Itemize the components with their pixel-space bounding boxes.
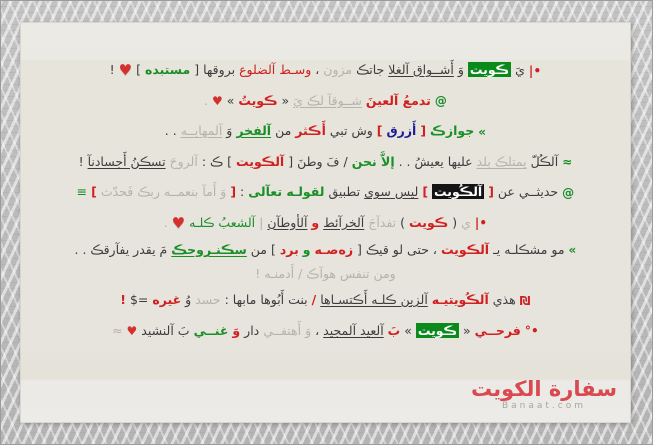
- run: حسد: [195, 292, 220, 307]
- run: !: [110, 62, 115, 77]
- run: =$: [130, 292, 148, 307]
- run: وُ: [185, 292, 191, 307]
- run: آلڪُلّ: [531, 154, 559, 169]
- run: لقولـﻪ تعآلى: [248, 184, 324, 199]
- run: آلفخر: [236, 123, 271, 138]
- run: بَ آلنشيد: [141, 323, 189, 338]
- run: ليس سوى: [364, 184, 418, 199]
- text-line-8: ₪ هذي آلڪُويتيـﻪ آلزين ڪلـﻪ أَڪتسـاها / …: [30, 285, 621, 316]
- line-marker: ₪: [520, 286, 531, 316]
- run: برد: [280, 242, 299, 257]
- highlight-kuwait: ڪويت: [468, 62, 511, 77]
- run: تفدآجَ: [368, 215, 396, 230]
- run: مستبدﻩ: [145, 62, 190, 77]
- run: آلشعبُ ڪلـﻪ: [189, 215, 255, 230]
- line-marker: »: [569, 239, 577, 262]
- watermark-latin: Banaat.com: [471, 400, 617, 413]
- run: ]: [271, 242, 276, 257]
- run: بنت أَبُوها مابها :: [225, 292, 308, 307]
- line-marker: •|: [475, 208, 487, 238]
- decorative-frame: •| يَ ڪويت وَ أَشــواق آلغلا جاتڪ مزون ،…: [0, 0, 653, 445]
- text-line-3: » جوازڪ [ أَزرق ] وش تبي أَڪثر من آلفخر …: [30, 116, 621, 147]
- watermark: سفارة الكويت Banaat.com: [471, 378, 617, 413]
- run: من: [251, 242, 267, 257]
- run: ، حتى لو قيڪ: [366, 242, 437, 257]
- run: (: [452, 215, 457, 230]
- run: وَ أَمآ بنعمــﻪ ربڪ فَحدّث: [101, 184, 227, 199]
- run: .: [164, 215, 168, 230]
- run: مزون: [323, 62, 352, 77]
- run: عليها يعيشُ: [415, 154, 473, 169]
- line-marker: ≈: [562, 147, 572, 177]
- run: دار: [244, 323, 259, 338]
- text-line-7: » مو مشڪلـﻪ يـ آلڪويت ، حتى لو قيڪ [ زﻩص…: [30, 238, 621, 285]
- heart-icon: ♥: [119, 61, 132, 79]
- run: :: [240, 184, 244, 199]
- run: ≈: [112, 323, 122, 338]
- highlight-kuwait: ڪويت: [416, 323, 459, 338]
- line-marker: @: [562, 178, 574, 208]
- run: [: [357, 242, 362, 257]
- run: آلڪويت: [441, 242, 489, 257]
- run: ي: [461, 215, 471, 230]
- run: آلعيد آلمجيد: [323, 323, 384, 338]
- text-line-6: •| ي ( ڪويت ) تفدآجَ آلخرآئط و آلأوطآن |…: [30, 208, 621, 239]
- run: حديثــي عن: [498, 184, 558, 199]
- run: وَ: [226, 123, 232, 138]
- run: ڪويتُ: [238, 93, 277, 108]
- run: [: [288, 154, 293, 169]
- run: فَ وطنَ: [297, 154, 339, 169]
- run: [: [420, 123, 426, 138]
- run: و: [311, 215, 319, 230]
- run: جاتڪ: [356, 62, 384, 77]
- run: مو مشڪلـﻪ يـ: [493, 242, 564, 257]
- run: /: [344, 154, 348, 169]
- run: أَڪثر: [295, 123, 326, 138]
- run: غيره: [152, 292, 181, 307]
- run: . .: [75, 242, 87, 257]
- run: «: [282, 93, 290, 108]
- heart-icon: ♥: [172, 214, 185, 232]
- content-page: •| يَ ڪويت وَ أَشــواق آلغلا جاتڪ مزون ،…: [20, 22, 631, 423]
- run: [: [230, 184, 236, 199]
- run: تسڪنُ أَجسادنآ: [88, 154, 166, 169]
- run: أَشــواق آلغلا: [388, 62, 454, 77]
- run: ،: [315, 62, 319, 77]
- run: إلاَّ نحن: [352, 154, 395, 169]
- run: وَ: [458, 62, 464, 77]
- run: من: [275, 123, 291, 138]
- run: ومن تنفس هوآڪ / أَدمنـﻪ !: [255, 266, 395, 281]
- run: ≡: [77, 184, 87, 199]
- line-marker: @: [435, 86, 447, 116]
- run: آلمهابــﻪ: [181, 123, 223, 138]
- run: !: [120, 292, 126, 307]
- run: [: [488, 184, 494, 199]
- run: آلڪويت: [236, 154, 284, 169]
- line-marker: »: [478, 117, 486, 147]
- run: وش تبي: [330, 123, 373, 138]
- heart-icon: ♥: [127, 324, 138, 338]
- heart-icon: ♥: [212, 94, 223, 108]
- text-line-9: •° فرحــي « ڪويت » بَ آلعيد آلمجيد ، وَ …: [30, 316, 621, 347]
- run: هذي: [493, 292, 516, 307]
- text-line-4: ≈ آلڪُلّ يمتلڪ بلد عليها يعيشُ . . إلاَّ…: [30, 147, 621, 178]
- run: ]: [377, 123, 383, 138]
- run: /: [312, 292, 317, 307]
- run: ]: [91, 184, 97, 199]
- run: فرحــي: [475, 323, 521, 338]
- run: ڪ :: [202, 154, 223, 169]
- run: ): [400, 215, 405, 230]
- run: سڪنـروحڪ: [171, 242, 247, 257]
- run: ]: [136, 62, 141, 77]
- run: يمتلڪ بلد: [477, 154, 527, 169]
- run: تدمعُ آلعينَ: [366, 93, 431, 108]
- run: آلخرآئط: [323, 215, 364, 230]
- line-marker: •|: [529, 56, 541, 86]
- run: تطبيق: [328, 184, 360, 199]
- run: ڪويت: [409, 215, 448, 230]
- run: |: [259, 215, 263, 230]
- run: ،: [315, 323, 319, 338]
- run: «: [463, 323, 471, 338]
- run: بَ: [388, 323, 401, 338]
- run: وَ: [232, 323, 240, 338]
- run: وسـط آلضلوع: [239, 62, 311, 77]
- run: شــوقآ لڪ يَ: [293, 93, 362, 108]
- run: ]: [227, 154, 232, 169]
- run: . .: [165, 123, 177, 138]
- run: أَزرق: [386, 123, 416, 138]
- run: و: [303, 242, 311, 257]
- watermark-arabic: سفارة الكويت: [471, 378, 617, 400]
- text-line-1: •| يَ ڪويت وَ أَشــواق آلغلا جاتڪ مزون ،…: [30, 55, 621, 86]
- run: آلزين ڪلـﻪ أَڪتسـاها: [320, 292, 428, 307]
- run: ]: [422, 184, 428, 199]
- run: زﻩصـﻪ: [315, 242, 354, 257]
- run: آلڪُويتيـﻪ: [432, 292, 489, 307]
- run: آلروحَ: [170, 154, 198, 169]
- run: مَ يقدر يفآرقڪ: [90, 242, 167, 257]
- run: يَ: [515, 62, 525, 77]
- run: وَ أَهتفــي: [263, 323, 311, 338]
- run: جوازڪ: [430, 123, 474, 138]
- text-line-2: @ تدمعُ آلعينَ شــوقآ لڪ يَ « ڪويتُ » ♥ …: [30, 86, 621, 117]
- run: !: [79, 154, 84, 169]
- run: غنــي: [194, 323, 229, 338]
- run: »: [404, 323, 412, 338]
- text-line-5: @ حديثــي عن [ آلڪُويت ] ليس سوى تطبيق ل…: [30, 177, 621, 208]
- run: آلأوطآن: [267, 215, 307, 230]
- poem-lines: •| يَ ڪويت وَ أَشــواق آلغلا جاتڪ مزون ،…: [30, 55, 621, 346]
- run: .: [204, 93, 208, 108]
- run: »: [227, 93, 235, 108]
- run: [: [194, 62, 199, 77]
- line-marker: •°: [525, 316, 539, 346]
- highlight-kuwait: آلڪُويت: [432, 184, 484, 199]
- run: بروقها: [203, 62, 235, 77]
- run: . .: [399, 154, 411, 169]
